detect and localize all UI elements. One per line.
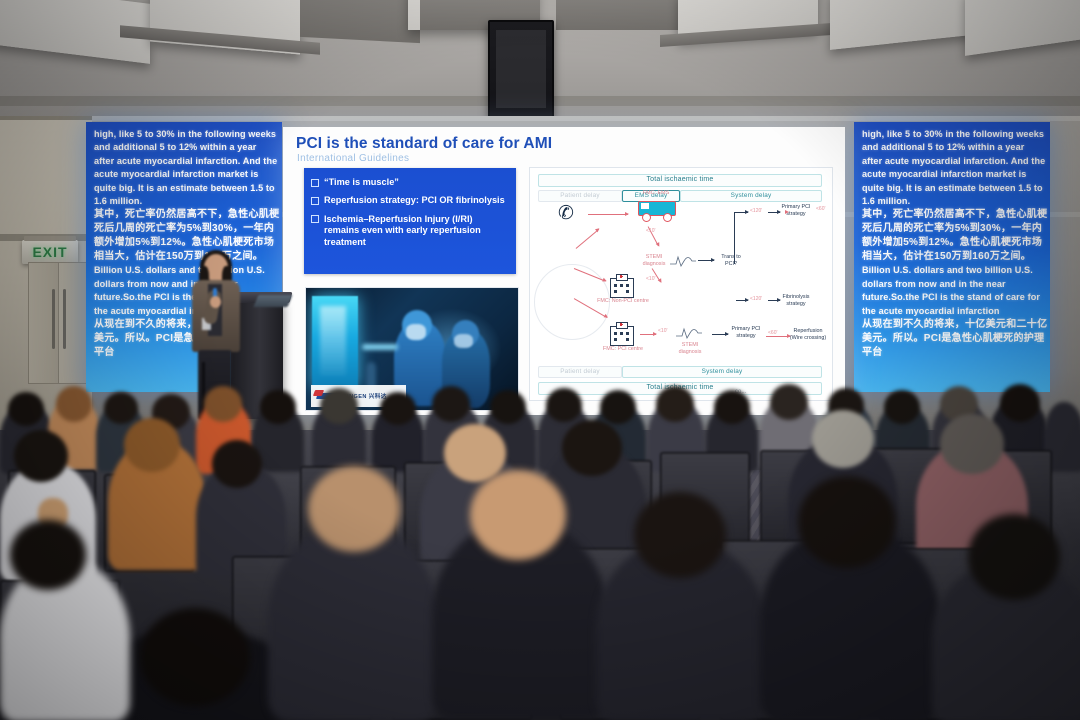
slide-bullet: Ischemia–Reperfusion Injury (I/RI) remai… (304, 214, 516, 248)
caption-line: 死后几周的死亡率为5%到30%，一年内 (862, 222, 1042, 236)
ceiling-coffer (830, 0, 980, 50)
caption-line: 死后几周的死亡率为5%到30%，一年内 (94, 222, 274, 236)
audience-head (204, 386, 242, 422)
flow-node-label: FMC: EMS (630, 190, 682, 197)
caption-line: 相当大，估计在150万到160万之间。 (862, 250, 1042, 264)
audience-head (490, 390, 526, 424)
caption-line: dollars from now and in the near (94, 278, 274, 291)
audience-head (634, 492, 726, 578)
flow-band-system-delay: System delay (622, 366, 822, 378)
bullet-text: Ischemia–Reperfusion Injury (I/RI) remai… (324, 214, 481, 247)
flow-node-label: FMC: PCI centre (592, 346, 654, 353)
projector-mount (488, 20, 554, 120)
caption-line: quite big. It is an estimate between 1.5… (862, 182, 1042, 195)
bullet-text: “Time is muscle” (324, 177, 399, 187)
checkbox-bullet-icon (311, 179, 319, 187)
flow-node-label: STEMI diagnosis (634, 254, 674, 267)
phone-call-icon: ✆ (558, 204, 584, 226)
audience-head (14, 430, 68, 482)
caption-line: acute myocardial infarction market is (94, 168, 274, 181)
audience-head (8, 392, 44, 426)
audience-head (770, 384, 808, 420)
audience-head (56, 386, 92, 422)
surgical-instrument (362, 344, 398, 350)
audience-head (562, 420, 622, 476)
audience-head (320, 388, 358, 424)
flow-node-label: Trans to PCI? (716, 254, 746, 267)
caption-line: 从现在到不久的将来，十亿美元和二十亿 (862, 318, 1042, 332)
caption-line: after acute myocardial infarction. And t… (862, 155, 1042, 168)
caption-line: acute myocardial infarction market is (862, 168, 1042, 181)
flow-node-label: FMC: Non-PCI centre (592, 298, 654, 305)
slide-bullet: Reperfusion strategy: PCI OR fibrinolysi… (304, 195, 516, 206)
ecg-waveform-icon (676, 326, 702, 340)
hospital-icon (608, 274, 634, 296)
audience-head (798, 476, 896, 568)
exit-door (28, 262, 60, 384)
caption-line: 额外增加5%到12%。急性心肌梗死市场 (94, 236, 274, 250)
caption-line: high, like 5 to 30% in the following wee… (94, 128, 274, 141)
ceiling (0, 0, 1080, 132)
caption-line: and additional 5 to 12% within a year (862, 141, 1042, 154)
audience-head (380, 392, 416, 425)
audience-head (1000, 384, 1040, 422)
hospital-icon (608, 322, 634, 344)
flow-band-patient-delay: Patient delay (538, 190, 622, 202)
audience-head (884, 390, 920, 424)
ambulance-icon (634, 198, 678, 222)
audience-head (432, 386, 470, 422)
audience-head (140, 608, 250, 706)
caption-line: Billion U.S. dollars and two billion U.S… (862, 264, 1042, 277)
ischaemic-time-flowchart: Total ischaemic time Patient delay EMS d… (529, 167, 833, 401)
flow-node-label: STEMI diagnosis (672, 342, 708, 355)
audience-head (940, 414, 1004, 474)
audience-head (124, 418, 180, 472)
audience-head (10, 520, 86, 590)
caption-line: 1.6 million. (862, 195, 1042, 208)
audience-head (812, 410, 874, 468)
ceiling-coffer (300, 0, 420, 43)
flow-band-total-top: Total ischaemic time (538, 174, 822, 187)
checkbox-bullet-icon (311, 197, 319, 205)
ceiling-coffer (556, 0, 686, 30)
slide-bullet-box: “Time is muscle” Reperfusion strategy: P… (304, 168, 516, 274)
caption-line: 美元。所以。PCI是急性心肌梗死的护理 (862, 332, 1042, 346)
caption-line: 1.6 million. (94, 195, 274, 208)
caption-line: 其中，死亡率仍然居高不下，急性心肌梗 (94, 208, 274, 222)
caption-line: 平台 (862, 346, 1042, 360)
flow-node-label: Fibrinolysis strategy (778, 294, 814, 307)
audience-head (968, 514, 1060, 600)
caption-line: and additional 5 to 12% within a year (94, 141, 274, 154)
conference-photo: EXIT high, like 5 to 30% in the followin… (0, 0, 1080, 720)
flow-node-label: Reperfusion (Wire crossing) (788, 328, 828, 341)
presentation-screen: PCI is the standard of care for AMI Inte… (283, 127, 845, 415)
slide-title: PCI is the standard of care for AMI (296, 135, 552, 153)
caption-line: 额外增加5%到12%。急性心肌梗死市场 (862, 236, 1042, 250)
audience-member (268, 524, 438, 720)
caption-line: dollars from now and in the near (862, 278, 1042, 291)
audience-head (470, 470, 566, 560)
audience-head (308, 466, 400, 552)
caption-line: high, like 5 to 30% in the following wee… (862, 128, 1042, 141)
ecg-waveform-icon (670, 254, 696, 268)
angiography-monitor (312, 296, 358, 388)
flow-band-system-delay: System delay (680, 190, 822, 202)
audience-head (546, 388, 582, 422)
caption-line: 相当大，估计在150万到160万之间。 (94, 250, 274, 264)
caption-screen-right: high, like 5 to 30% in the following wee… (854, 122, 1050, 392)
surgical-mask (406, 324, 426, 340)
audience-head (656, 386, 694, 422)
caption-line: after acute myocardial infarction. And t… (94, 155, 274, 168)
exit-sign-label: EXIT (32, 244, 67, 260)
caption-line: quite big. It is an estimate between 1.5… (94, 182, 274, 195)
checkbox-bullet-icon (311, 215, 319, 223)
caption-line: future.So.the PCI is the stand of care f… (862, 291, 1042, 304)
caption-line: Billion U.S. dollars and two billion U.S… (94, 264, 274, 277)
ceiling-coffer (965, 0, 1080, 56)
flow-node-label: Primary PCI strategy (730, 326, 762, 339)
audience-head (714, 390, 750, 424)
caption-line: the acute myocardial infarction (862, 305, 1042, 318)
caption-line: 其中，死亡率仍然居高不下，急性心肌梗 (862, 208, 1042, 222)
exit-sign: EXIT (22, 240, 78, 264)
bullet-text: Reperfusion strategy: PCI OR fibrinolysi… (324, 195, 505, 205)
audience-head (212, 440, 262, 488)
audience-head (104, 392, 138, 424)
flow-band-patient-delay: Patient delay (538, 366, 622, 378)
slide-subtitle: International Guidelines (297, 153, 409, 164)
slide-bullet: “Time is muscle” (304, 177, 516, 188)
audience-head (600, 390, 636, 424)
surgical-mask (454, 334, 473, 348)
podium-laptop (254, 295, 293, 307)
audience-head (260, 390, 296, 424)
